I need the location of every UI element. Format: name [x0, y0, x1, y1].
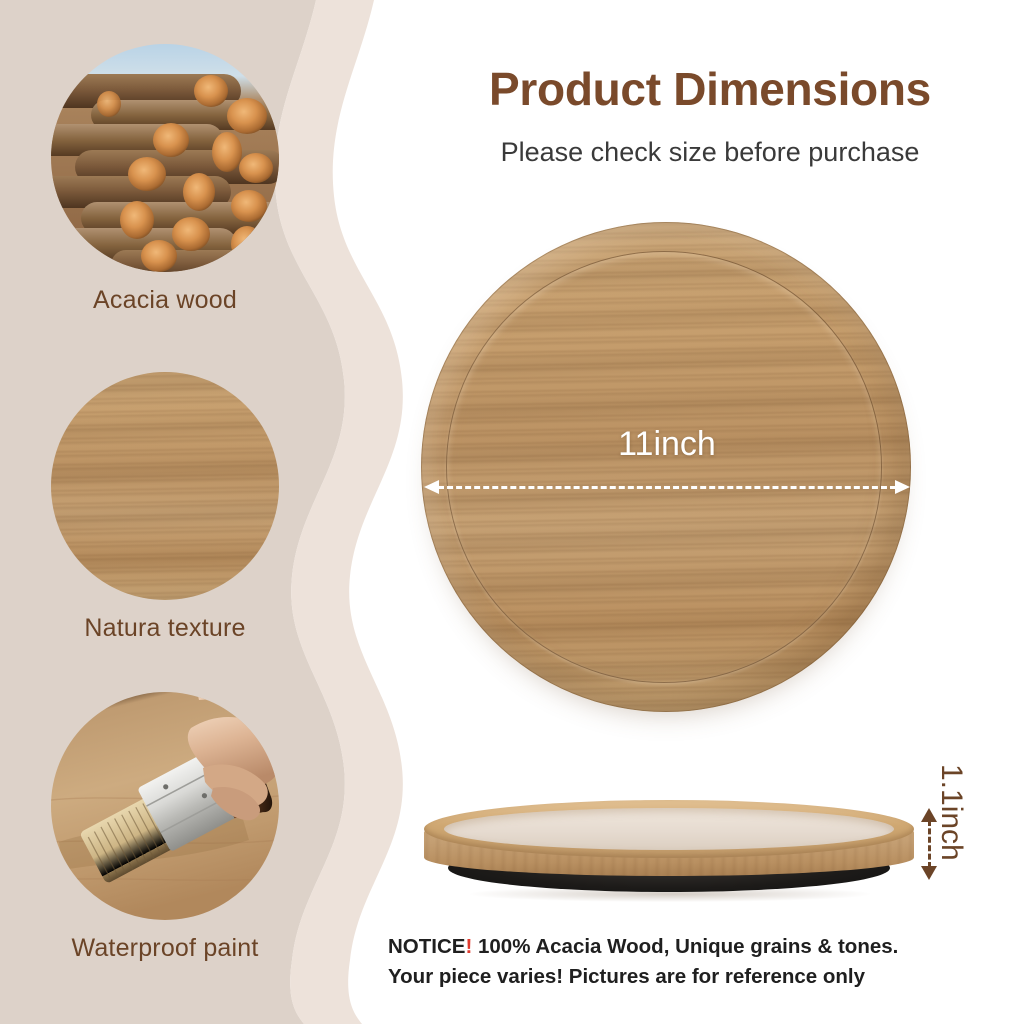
page-subtitle: Please check size before purchase — [420, 137, 1000, 168]
notice-block: NOTICE! 100% Acacia Wood, Unique grains … — [388, 932, 988, 991]
feature-item-acacia-wood: Acacia wood — [0, 44, 330, 315]
dashed-line — [928, 820, 931, 868]
diameter-label: 11inch — [424, 425, 910, 464]
feature-item-natura-texture: Natura texture — [0, 372, 330, 643]
logs-illustration — [51, 44, 279, 272]
notice-line-1: NOTICE! 100% Acacia Wood, Unique grains … — [388, 932, 988, 962]
tray-rim-shading — [421, 222, 911, 712]
notice-text-1: 100% Acacia Wood, Unique grains & tones. — [478, 935, 898, 958]
feature-image-natura-texture — [51, 372, 279, 600]
feature-label-natura-texture: Natura texture — [0, 614, 330, 643]
feature-label-acacia-wood: Acacia wood — [0, 286, 330, 315]
feature-list: Acacia wood Natura texture — [0, 0, 330, 1024]
diameter-dimension-line — [424, 480, 910, 494]
exclamation-icon: ! — [465, 935, 472, 958]
feature-item-waterproof-paint: Waterproof paint — [0, 692, 330, 963]
feature-image-acacia-wood — [51, 44, 279, 272]
notice-keyword: NOTICE — [388, 935, 465, 958]
wood-grain-texture-photo — [51, 372, 279, 600]
dashed-line — [438, 486, 896, 489]
height-label: 1.1inch — [934, 764, 968, 894]
infographic-canvas: Acacia wood Natura texture — [0, 0, 1024, 1024]
round-wooden-tray-side-view — [424, 800, 914, 908]
feature-label-waterproof-paint: Waterproof paint — [0, 934, 330, 963]
notice-line-2: Your piece varies! Pictures are for refe… — [388, 962, 988, 992]
feature-image-waterproof-paint — [51, 692, 279, 920]
paintbrush-on-wood-photo — [51, 692, 279, 920]
arrow-right-icon — [895, 480, 910, 494]
page-title: Product Dimensions — [430, 62, 990, 116]
tray-rim-inner — [444, 808, 894, 850]
round-wooden-tray-top-view — [421, 222, 911, 712]
arrow-left-icon — [424, 480, 439, 494]
